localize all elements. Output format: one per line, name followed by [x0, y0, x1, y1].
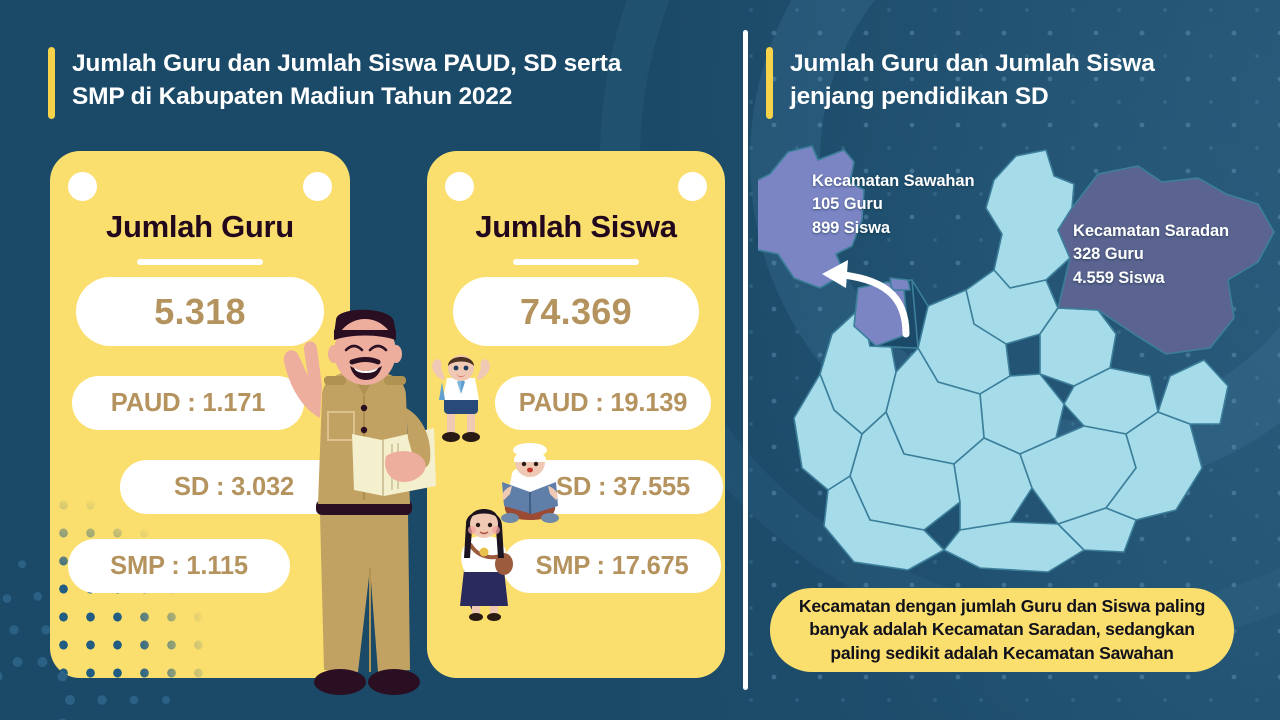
- card-breakdown-label: SMP : 17.675: [535, 552, 688, 581]
- stat-card-jumlah-siswa: Jumlah Siswa 74.369 PAUD : 19.139 SD : 3…: [427, 151, 725, 678]
- map-district-sawahan-small[interactable]: [890, 278, 910, 290]
- card-breakdown-pill: PAUD : 1.171: [72, 376, 304, 430]
- card-heading: Jumlah Guru: [50, 209, 350, 245]
- map-district[interactable]: [986, 150, 1074, 288]
- card-breakdown-pill: PAUD : 19.139: [495, 376, 711, 430]
- card-breakdown-label: PAUD : 19.139: [519, 389, 687, 418]
- card-total-value: 74.369: [520, 291, 632, 333]
- card-heading: Jumlah Siswa: [427, 209, 725, 245]
- infographic-canvas: Jumlah Guru dan Jumlah Siswa PAUD, SD se…: [0, 0, 1280, 720]
- card-breakdown-pill: SD : 3.032: [120, 460, 348, 514]
- card-breakdown-pill: SMP : 17.675: [503, 539, 721, 593]
- card-heading-underline: [137, 259, 263, 265]
- punch-hole-icon: [445, 172, 474, 201]
- map-label-sawahan: Kecamatan Sawahan 105 Guru 899 Siswa: [812, 170, 974, 240]
- right-panel-title: Jumlah Guru dan Jumlah Siswa jenjang pen…: [766, 47, 1236, 119]
- card-total-pill: 5.318: [76, 277, 324, 346]
- left-title-text: Jumlah Guru dan Jumlah Siswa PAUD, SD se…: [72, 47, 621, 119]
- punch-hole-icon: [303, 172, 332, 201]
- card-breakdown-label: SD : 37.555: [556, 473, 690, 502]
- left-panel-title: Jumlah Guru dan Jumlah Siswa PAUD, SD se…: [48, 47, 708, 119]
- card-heading-underline: [513, 259, 639, 265]
- map-caption-box: Kecamatan dengan jumlah Guru dan Siswa p…: [770, 588, 1234, 672]
- card-total-value: 5.318: [154, 291, 246, 333]
- punch-hole-icon: [68, 172, 97, 201]
- panel-divider: [743, 30, 748, 690]
- map-caption-text: Kecamatan dengan jumlah Guru dan Siswa p…: [781, 595, 1223, 665]
- card-breakdown-label: SD : 3.032: [174, 473, 294, 502]
- card-breakdown-label: PAUD : 1.171: [111, 389, 265, 418]
- card-breakdown-pill: SD : 37.555: [523, 460, 723, 514]
- title-accent-bar: [48, 47, 55, 119]
- map-label-saradan: Kecamatan Saradan 328 Guru 4.559 Siswa: [1073, 220, 1229, 290]
- punch-hole-icon: [678, 172, 707, 201]
- card-breakdown-label: SMP : 1.115: [110, 552, 248, 581]
- map-district[interactable]: [1158, 360, 1228, 424]
- card-breakdown-pill: SMP : 1.115: [68, 539, 290, 593]
- right-title-text: Jumlah Guru dan Jumlah Siswa jenjang pen…: [790, 47, 1155, 119]
- title-accent-bar: [766, 47, 773, 119]
- stat-card-jumlah-guru: Jumlah Guru 5.318 PAUD : 1.171 SD : 3.03…: [50, 151, 350, 678]
- card-total-pill: 74.369: [453, 277, 699, 346]
